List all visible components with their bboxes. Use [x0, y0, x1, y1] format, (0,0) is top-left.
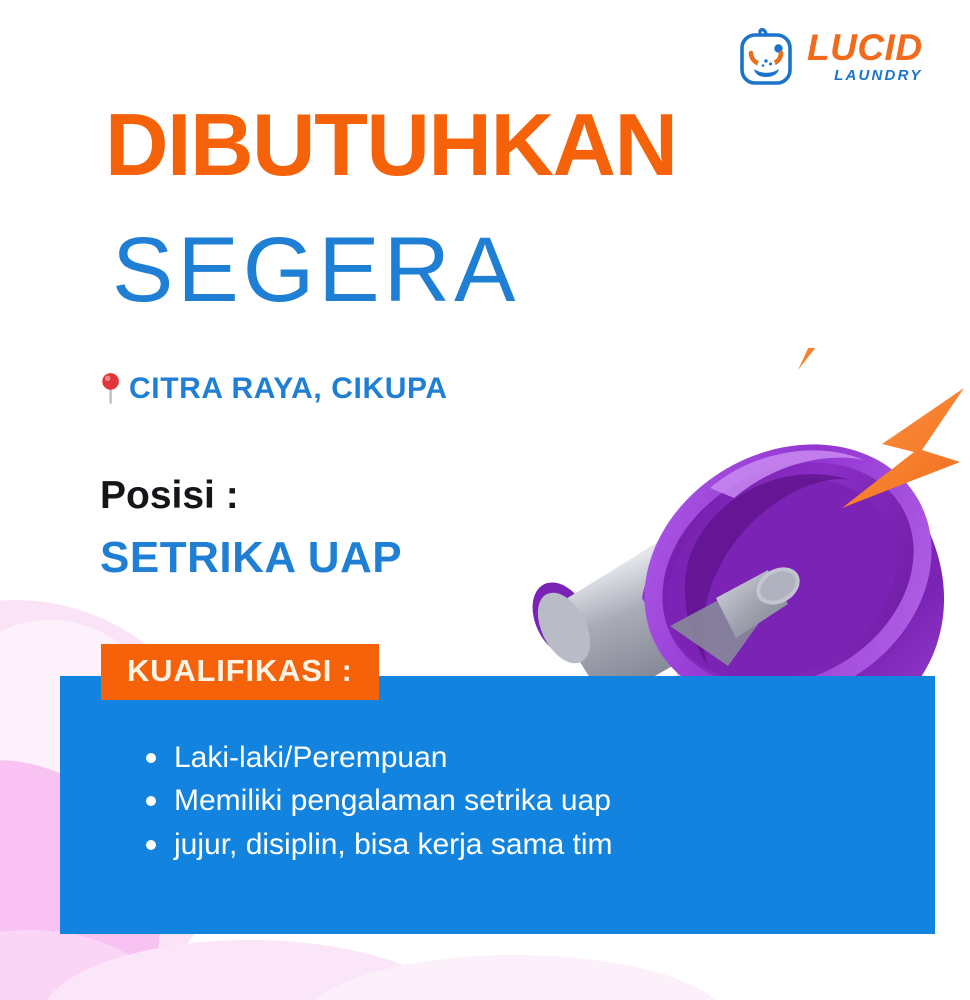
list-item: Memiliki pengalaman setrika uap [140, 780, 760, 821]
brand-wordmark: LUCID LAUNDRY [807, 29, 923, 83]
list-item: jujur, disiplin, bisa kerja sama tim [140, 824, 760, 865]
location-row: CITRA RAYA, CIKUPA [100, 372, 448, 406]
headline-primary: DIBUTUHKAN [105, 101, 677, 189]
background-blob [40, 940, 460, 1000]
brand-name: LUCID [807, 29, 923, 66]
laundry-basket-icon [735, 22, 797, 90]
headline-secondary: SEGERA [112, 224, 519, 316]
map-pin-icon [100, 372, 122, 406]
background-blob [300, 955, 730, 1000]
lightning-bolt-icon [798, 348, 886, 370]
brand-logo: LUCID LAUNDRY [735, 22, 923, 90]
list-item: Laki-laki/Perempuan [140, 737, 760, 778]
background-blob [0, 930, 180, 1000]
position-value: SETRIKA UAP [100, 533, 402, 583]
brand-subtitle: LAUNDRY [807, 68, 923, 83]
qualifications-banner-label: KUALIFIKASI : [127, 653, 353, 688]
location-text: CITRA RAYA, CIKUPA [129, 372, 448, 406]
qualifications-banner: KUALIFIKASI : [101, 644, 379, 700]
qualifications-list: Laki-laki/Perempuan Memiliki pengalaman … [140, 737, 760, 867]
recruitment-poster: LUCID LAUNDRY DIBUTUHKAN SEGERA CITRA RA… [0, 0, 970, 1000]
position-label: Posisi : [100, 474, 239, 518]
